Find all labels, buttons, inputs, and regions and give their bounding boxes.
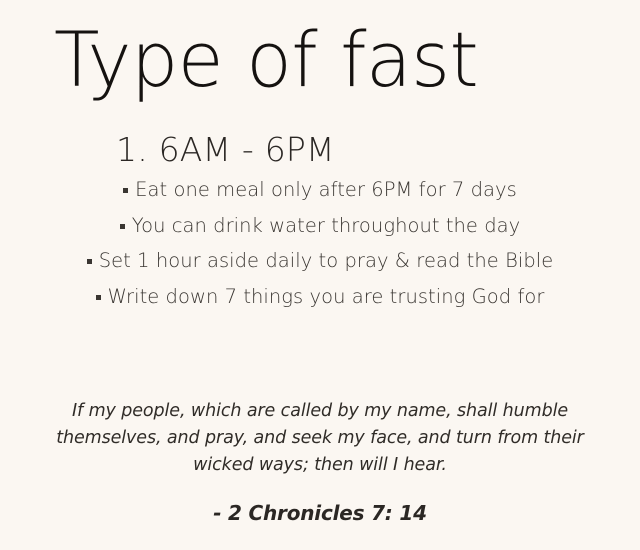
list-item: You can drink water throughout the day — [0, 216, 640, 236]
page-title: Type of fast — [54, 22, 478, 98]
list-item: Write down 7 things you are trusting God… — [0, 287, 640, 307]
fast-schedule-subtitle: 1. 6AM - 6PM — [116, 130, 335, 170]
list-item-label: Set 1 hour aside daily to pray & read th… — [99, 249, 554, 272]
fast-instructions-list: Eat one meal only after 6PM for 7 days Y… — [0, 180, 640, 306]
list-item: Set 1 hour aside daily to pray & read th… — [0, 251, 640, 271]
list-item-label: Write down 7 things you are trusting God… — [108, 285, 545, 308]
scripture-quote: If my people, which are called by my nam… — [50, 398, 590, 479]
square-bullet-icon — [87, 259, 92, 264]
list-item-label: You can drink water throughout the day — [132, 214, 521, 237]
fasting-info-slide: Type of fast 1. 6AM - 6PM Eat one meal o… — [0, 0, 640, 550]
list-item: Eat one meal only after 6PM for 7 days — [0, 180, 640, 200]
scripture-attribution: - 2 Chronicles 7: 14 — [0, 501, 640, 525]
square-bullet-icon — [96, 295, 101, 300]
square-bullet-icon — [120, 224, 125, 229]
list-item-label: Eat one meal only after 6PM for 7 days — [135, 178, 517, 201]
square-bullet-icon — [123, 188, 128, 193]
